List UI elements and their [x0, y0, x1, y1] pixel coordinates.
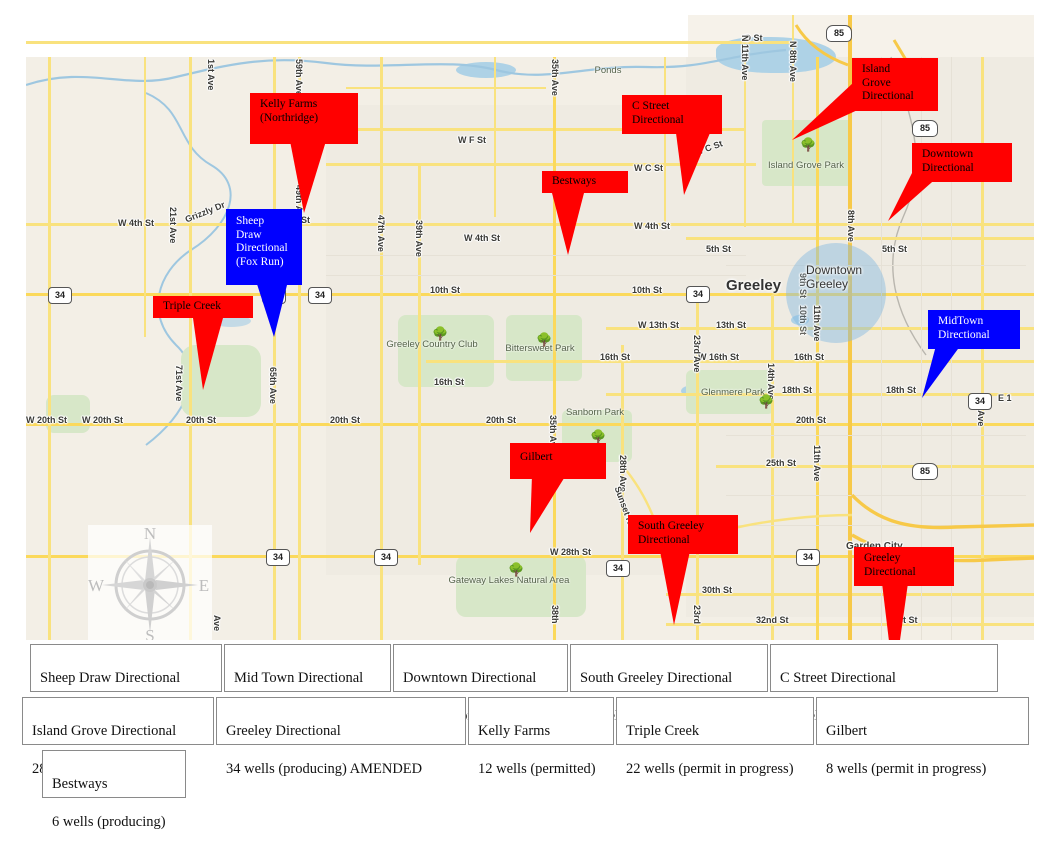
map-label-e-1: E 1 [998, 393, 1012, 403]
map-label-35th-ave-n: 35th Ave [550, 59, 560, 96]
legend-item-name: Kelly Farms [478, 722, 604, 741]
map-label-18th-st-2: 18th St [886, 385, 916, 395]
legend-row-3: Bestways 6 wells (producing) [42, 750, 186, 798]
compass-rose: N S W E [88, 525, 212, 640]
map-label-30th-st: 30th St [702, 585, 732, 595]
map-label-11th-ave-s: 11th Ave [812, 445, 822, 481]
map-label-25th-st: 25th St [766, 458, 796, 468]
legend-row-1: Sheep Draw Directional 23 wells (cancele… [30, 644, 998, 692]
callout-south-greeley-label: South Greeley Directional [628, 515, 738, 554]
legend: Sheep Draw Directional 23 wells (cancele… [0, 640, 1056, 816]
map-label-65th-ave: 65th Ave [268, 367, 278, 404]
map-label-20th-st-4: 20th St [796, 415, 826, 425]
map-label-13th-st: 13th St [716, 320, 746, 330]
route-shield-34-b: 34 [262, 287, 286, 304]
route-shield-34-e: 34 [266, 549, 290, 566]
tree-icon-island-grove: 🌳 [800, 138, 816, 151]
legend-item-greeley-directional[interactable]: Greeley Directional 34 wells (producing)… [216, 697, 466, 745]
map-label-w-4th-st-2: W 4th St [464, 233, 500, 243]
callout-island-grove[interactable]: Island Grove Directional [852, 58, 938, 111]
map-label-5th-st-2: 5th St [882, 244, 907, 254]
legend-item-name: South Greeley Directional [580, 669, 758, 688]
park-label-ponds: Ponds [578, 65, 638, 76]
compass-label-east: E [199, 576, 209, 595]
map-label-31st-st: 31st St [888, 615, 918, 625]
route-shield-34-d: 34 [686, 286, 710, 303]
callout-downtown[interactable]: Downtown Directional [912, 143, 1012, 182]
tree-icon-sanborn: 🌳 [590, 430, 606, 443]
tree-icon-glenmere: 🌳 [758, 395, 774, 408]
route-shield-34-c: 34 [308, 287, 332, 304]
legend-item-detail: 12 wells (permitted) [478, 760, 604, 779]
route-shield-85-north: 85 [826, 25, 852, 42]
route-shield-34-g: 34 [606, 560, 630, 577]
callout-sheep-draw[interactable]: Sheep Draw Directional (Fox Run) [226, 209, 302, 285]
legend-item-name: Sheep Draw Directional [40, 669, 212, 688]
map-label-w-13th-st: W 13th St [638, 320, 679, 330]
map-label-st-west: W 20th St [26, 415, 67, 425]
map-label-38th: 38th [550, 605, 560, 624]
callout-kelly-farms-label: Kelly Farms (Northridge) [250, 93, 358, 144]
legend-item-name: Gilbert [826, 722, 1019, 741]
callout-downtown-label: Downtown Directional [912, 143, 1012, 182]
legend-item-triple-creek[interactable]: Triple Creek 22 wells (permit in progres… [616, 697, 814, 745]
legend-item-name: Triple Creek [626, 722, 804, 741]
map-label-16th-st-2: 16th St [434, 377, 464, 387]
map-label-n-11th-ave: N 11th Ave [740, 35, 750, 80]
map-label-71st-ave: 71st Ave [174, 365, 184, 401]
callout-island-grove-label: Island Grove Directional [852, 58, 938, 111]
map-label-39th-ave: 39th Ave [414, 220, 424, 257]
callout-bestways-label: Bestways [542, 171, 628, 193]
map-label-w-f-st: W F St [458, 135, 486, 145]
callout-triple-creek-label: Triple Creek [153, 296, 253, 318]
map-label-ave-sw: Ave [212, 615, 222, 631]
map-label-11th-ave: 11th Ave [812, 305, 822, 341]
legend-item-sheep-draw[interactable]: Sheep Draw Directional 23 wells (cancele… [30, 644, 222, 692]
legend-item-c-street[interactable]: C Street Directional 32 wells (producing… [770, 644, 998, 692]
callout-c-street-label: C Street Directional [622, 95, 722, 134]
map-label-greeley-city: Greeley [726, 277, 781, 294]
compass-label-south: S [145, 626, 154, 640]
callout-south-greeley[interactable]: South Greeley Directional [628, 515, 738, 554]
legend-item-detail: 8 wells (permit in progress) [826, 760, 1019, 779]
legend-item-detail: 22 wells (permit in progress) [626, 760, 804, 779]
legend-item-name: Bestways [52, 775, 176, 794]
callout-triple-creek[interactable]: Triple Creek [153, 296, 253, 318]
route-shield-85-mid: 85 [912, 120, 938, 137]
callout-c-street[interactable]: C Street Directional [622, 95, 722, 134]
callout-sheep-draw-label: Sheep Draw Directional (Fox Run) [226, 209, 302, 285]
callout-kelly-farms[interactable]: Kelly Farms (Northridge) [250, 93, 358, 144]
route-shield-34-h: 34 [796, 549, 820, 566]
legend-item-gilbert[interactable]: Gilbert 8 wells (permit in progress) [816, 697, 1029, 745]
route-shield-34-f: 34 [374, 549, 398, 566]
legend-item-name: Island Grove Directional [32, 722, 204, 741]
compass-label-west: W [88, 576, 105, 595]
map-label-32nd-st: 32nd St [756, 615, 789, 625]
route-shield-34-a: 34 [48, 287, 72, 304]
legend-item-bestways[interactable]: Bestways 6 wells (producing) [42, 750, 186, 798]
map-label-23rd: 23rd [692, 605, 702, 624]
map-label-20th-st-3: 20th St [486, 415, 516, 425]
legend-item-kelly-farms[interactable]: Kelly Farms 12 wells (permitted) [468, 697, 614, 745]
callout-gilbert[interactable]: Gilbert [510, 443, 606, 479]
callout-greeley-directional-label: Greeley Directional [854, 547, 954, 586]
map-label-5th-st: 5th St [706, 244, 731, 254]
map-label-1st-ave: 1st Ave [206, 59, 216, 90]
map-label-21st-ave: 21st Ave [168, 207, 178, 243]
map-label-59th-ave: 59th Ave [294, 59, 304, 96]
legend-item-name: Greeley Directional [226, 722, 456, 741]
park-label-island-grove: Island Grove Park [756, 160, 856, 171]
map-label-w-c-st-a: W C St [634, 163, 663, 173]
map-label-10th-st-dt: 10th St [798, 305, 808, 335]
tree-icon-gateway: 🌳 [508, 563, 524, 576]
callout-midtown-label: MidTown Directional [928, 310, 1020, 349]
legend-item-mid-town[interactable]: Mid Town Directional 37 wells (canceled) [224, 644, 391, 692]
compass-rose-graphic: N S W E [88, 525, 212, 640]
legend-item-south-greeley[interactable]: South Greeley Directional 67 wells (perm… [570, 644, 768, 692]
legend-item-island-grove[interactable]: Island Grove Directional 28 wells (produ… [22, 697, 214, 745]
map-canvas[interactable]: O St W F St W C St W C St W 4th St W 4th… [26, 15, 1034, 640]
map-label-n-8th-ave: N 8th Ave [788, 41, 798, 82]
compass-label-north: N [144, 525, 156, 543]
park-label-sanborn: Sanborn Park [552, 407, 638, 418]
map-label-20th-st-2: 20th St [330, 415, 360, 425]
map-label-downtown-greeley: Downtown Greeley [806, 263, 862, 291]
map-label-w-28th-st: W 28th St [550, 547, 591, 557]
map-label-16th-st: 16th St [600, 352, 630, 362]
legend-item-name: Downtown Directional [403, 669, 558, 688]
map-label-10th-st-2: 10th St [632, 285, 662, 295]
callout-bestways[interactable]: Bestways [542, 171, 628, 193]
map-label-8th-ave: 8th Ave [846, 210, 856, 242]
map-label-w-16th-st: W 16th St [698, 352, 739, 362]
map-label-w-4th-st: W 4th St [118, 218, 154, 228]
callout-greeley-directional[interactable]: Greeley Directional [854, 547, 954, 586]
legend-item-downtown[interactable]: Downtown Directional 22 wells (producing… [393, 644, 568, 692]
map-label-47th-ave: 47th Ave [376, 215, 386, 252]
map-label-w-20th-st: W 20th St [82, 415, 123, 425]
callout-midtown[interactable]: MidTown Directional [928, 310, 1020, 349]
tree-icon-bittersweet: 🌳 [536, 333, 552, 346]
map-label-10th-st: 10th St [430, 285, 460, 295]
route-shield-85-south: 85 [912, 463, 938, 480]
legend-item-detail: 34 wells (producing) AMENDED [226, 760, 456, 779]
callout-gilbert-label: Gilbert [510, 443, 606, 479]
tree-icon-country-club: 🌳 [432, 327, 448, 340]
map-label-16th-st-3: 16th St [794, 352, 824, 362]
legend-item-name: C Street Directional [780, 669, 988, 688]
map-label-23rd-ave: 23rd Ave [692, 335, 702, 372]
map-label-20th-st: 20th St [186, 415, 216, 425]
map-label-w-4th-st-3: W 4th St [634, 221, 670, 231]
legend-row-2: Island Grove Directional 28 wells (produ… [22, 697, 1029, 745]
route-shield-34-i: 34 [968, 393, 992, 410]
map-label-18th-st: 18th St [782, 385, 812, 395]
legend-item-name: Mid Town Directional [234, 669, 381, 688]
